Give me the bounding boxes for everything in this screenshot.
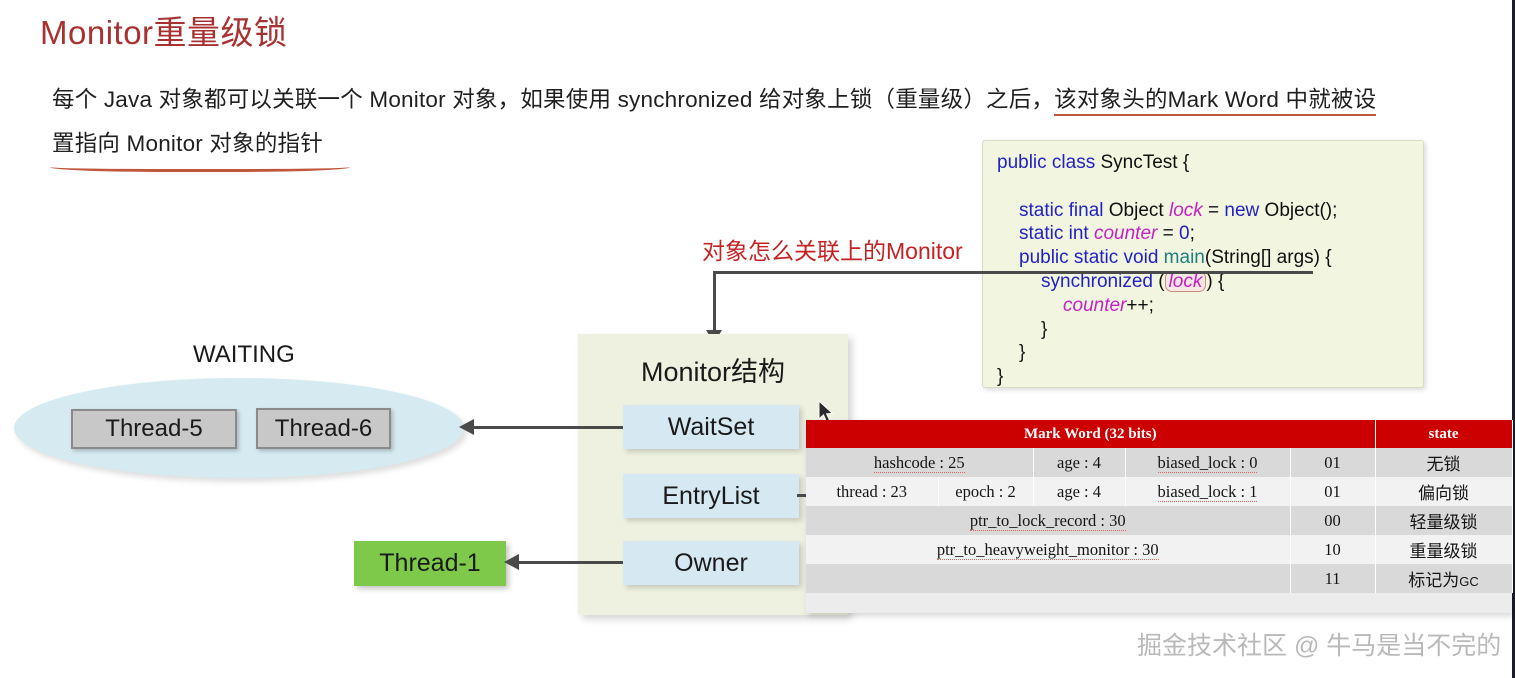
code-punct: ) { bbox=[1206, 271, 1224, 292]
code-params: (String[] args) { bbox=[1205, 247, 1332, 268]
header-mark-word: Mark Word (32 bits) bbox=[806, 420, 1375, 448]
cell-state: 重量级锁 bbox=[1375, 535, 1512, 564]
cell-ptr-heavyweight: ptr_to_heavyweight_monitor : 30 bbox=[806, 535, 1290, 564]
cell-hashcode: hashcode : 25 bbox=[806, 448, 1033, 477]
table-row: 11 标记为GC bbox=[806, 564, 1512, 593]
page-title: Monitor重量级锁 bbox=[40, 6, 288, 54]
code-keyword: synchronized bbox=[1041, 271, 1153, 292]
code-variable: lock bbox=[1169, 200, 1203, 221]
header-state: state bbox=[1375, 420, 1512, 448]
code-line-5: public static void main(String[] args) { bbox=[997, 246, 1409, 270]
monitor-slot-waitset: WaitSet bbox=[623, 405, 799, 449]
cell-ptr-lock-record: ptr_to_lock_record : 30 bbox=[806, 506, 1290, 535]
thread-box-5: Thread-5 bbox=[71, 409, 237, 449]
connector-waitset-line bbox=[473, 426, 623, 429]
table-row: thread : 23 epoch : 2 age : 4 biased_loc… bbox=[806, 477, 1512, 506]
monitor-slot-entrylist: EntryList bbox=[623, 474, 799, 518]
paragraph-text-2: 置指向 Monitor 对象的指针 bbox=[52, 131, 323, 156]
code-punct: ; bbox=[1190, 223, 1195, 244]
thread-box-6: Thread-6 bbox=[256, 408, 391, 449]
connector-owner-arrowhead bbox=[504, 554, 519, 570]
code-operator: = bbox=[1203, 200, 1225, 221]
code-expression: Object(); bbox=[1259, 200, 1337, 221]
cell-bits: 00 bbox=[1290, 506, 1375, 535]
paragraph-text-1: 每个 Java 对象都可以关联一个 Monitor 对象，如果使用 synchr… bbox=[52, 87, 1054, 112]
monitor-slot-owner: Owner bbox=[623, 541, 799, 585]
cell-empty bbox=[806, 564, 1290, 593]
cell-epoch: epoch : 2 bbox=[938, 477, 1033, 506]
connector-waitset-arrowhead bbox=[459, 419, 474, 435]
code-classname: SyncTest { bbox=[1095, 152, 1189, 173]
code-keyword: public static void bbox=[1019, 247, 1158, 268]
waiting-label: WAITING bbox=[193, 341, 295, 369]
cell-age: age : 4 bbox=[1033, 477, 1125, 506]
cell-bits: 01 bbox=[1290, 448, 1375, 477]
cell-biased-lock: biased_lock : 0 bbox=[1125, 448, 1290, 477]
code-keyword: public class bbox=[997, 152, 1095, 173]
cell-age: age : 4 bbox=[1033, 448, 1125, 477]
watermark: 掘金技术社区 @ 牛马是当不完的 bbox=[1137, 626, 1501, 662]
code-punct: ( bbox=[1153, 271, 1165, 292]
cell-bits: 01 bbox=[1290, 477, 1375, 506]
cell-state: 无锁 bbox=[1375, 448, 1512, 477]
code-type: Object bbox=[1103, 200, 1168, 221]
code-number: 0 bbox=[1179, 223, 1190, 244]
code-operator: ++; bbox=[1126, 295, 1153, 316]
state-suffix: GC bbox=[1459, 574, 1479, 589]
code-keyword: static final bbox=[1019, 200, 1103, 221]
cell-thread: thread : 23 bbox=[806, 477, 938, 506]
connector-owner-line bbox=[518, 561, 623, 564]
annotation-arrow-horizontal bbox=[713, 271, 1313, 274]
monitor-structure-title: Monitor结构 bbox=[578, 350, 848, 389]
mark-word-table: Mark Word (32 bits) state hashcode : 25 … bbox=[806, 420, 1512, 613]
code-line-1: public class SyncTest { bbox=[997, 151, 1409, 175]
table-row: ptr_to_heavyweight_monitor : 30 10 重量级锁 bbox=[806, 535, 1512, 564]
code-line-9: } bbox=[997, 341, 1409, 365]
paragraph-underlined-phrase: 该对象头的Mark Word 中就被设 bbox=[1054, 87, 1376, 116]
code-method: main bbox=[1158, 247, 1204, 268]
table-row: hashcode : 25 age : 4 biased_lock : 0 01… bbox=[806, 448, 1512, 477]
code-keyword: new bbox=[1224, 200, 1259, 221]
cell-state: 轻量级锁 bbox=[1375, 506, 1512, 535]
code-line-4: static int counter = 0; bbox=[997, 222, 1409, 246]
hand-drawn-underline bbox=[50, 160, 350, 172]
cell-biased-lock: biased_lock : 1 bbox=[1125, 477, 1290, 506]
cell-state: 标记为GC bbox=[1375, 564, 1512, 593]
cell-bits: 10 bbox=[1290, 535, 1375, 564]
code-operator: = bbox=[1157, 223, 1179, 244]
code-line-10: } bbox=[997, 365, 1409, 388]
code-variable: counter bbox=[1063, 295, 1126, 316]
table-row: ptr_to_lock_record : 30 00 轻量级锁 bbox=[806, 506, 1512, 535]
code-line-3: static final Object lock = new Object(); bbox=[997, 199, 1409, 223]
state-prefix: 标记为 bbox=[1408, 571, 1459, 590]
table-header-row: Mark Word (32 bits) state bbox=[806, 420, 1512, 448]
slide-canvas: Monitor重量级锁 每个 Java 对象都可以关联一个 Monitor 对象… bbox=[0, 0, 1515, 678]
code-line-8: } bbox=[997, 318, 1409, 342]
cell-bits: 11 bbox=[1290, 564, 1375, 593]
code-line-7: counter++; bbox=[997, 294, 1409, 318]
java-code-block: public class SyncTest { static final Obj… bbox=[982, 140, 1424, 388]
code-keyword: static int bbox=[1019, 223, 1089, 244]
thread-box-1-owner: Thread-1 bbox=[354, 541, 506, 586]
code-variable: counter bbox=[1089, 223, 1158, 244]
annotation-arrow-vertical bbox=[713, 271, 716, 333]
annotation-text: 对象怎么关联上的Monitor bbox=[702, 232, 963, 266]
cell-state: 偏向锁 bbox=[1375, 477, 1512, 506]
code-blank-line bbox=[997, 175, 1409, 199]
code-highlighted-lock: lock bbox=[1165, 271, 1207, 292]
